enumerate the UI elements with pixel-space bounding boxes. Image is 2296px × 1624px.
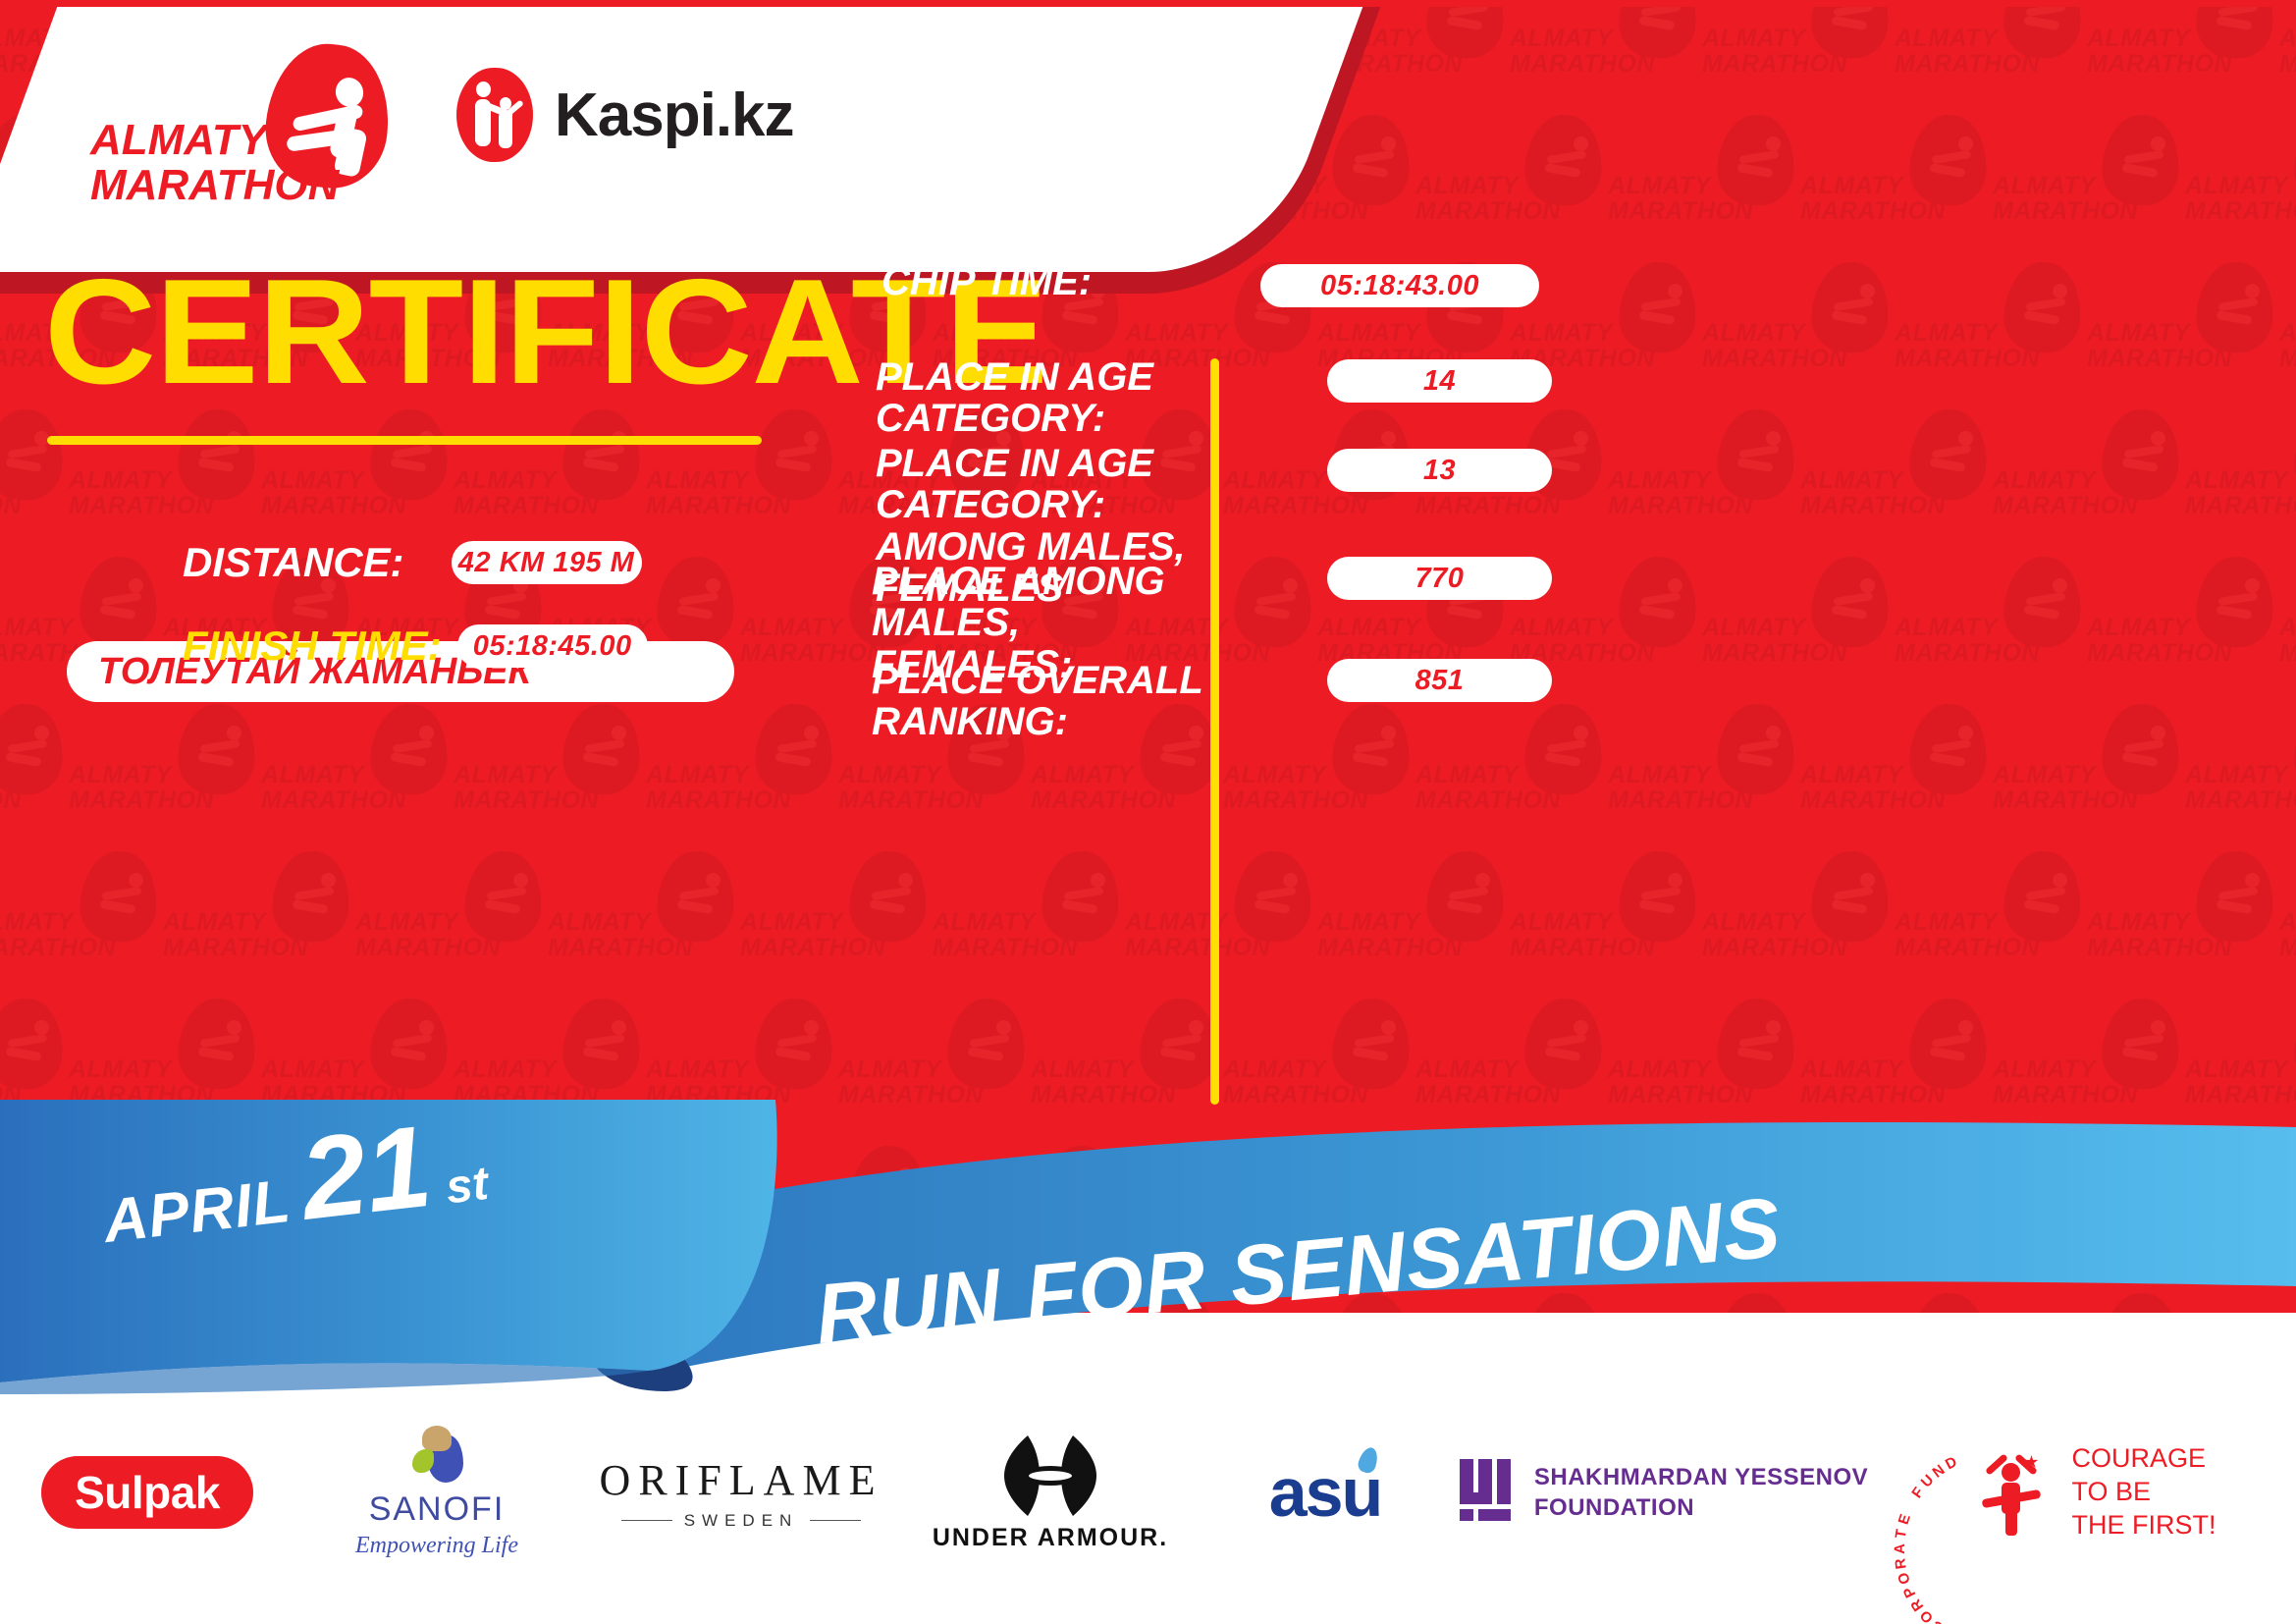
yessenov-line-1: SHAKHMARDAN YESSENOV — [1534, 1462, 1868, 1492]
sponsor-logo-sanofi: SANOFI Empowering Life — [294, 1419, 579, 1566]
stat-value-pill: 14 — [1327, 359, 1552, 403]
sanofi-icon — [406, 1426, 467, 1487]
field-distance-label: DISTANCE: — [183, 539, 404, 586]
oriflame-wordmark: ORIFLAME — [600, 1455, 883, 1505]
stat-value: 851 — [1415, 665, 1465, 697]
title-underline — [47, 436, 762, 445]
asu-wordmark: asu — [1269, 1453, 1382, 1532]
courage-figure-icon — [1986, 1455, 2041, 1534]
divider-line-right — [810, 1520, 861, 1521]
divider-line-left — [621, 1520, 672, 1521]
top-accent-rule — [0, 0, 2296, 7]
under-armour-wordmark: UNDER ARMOUR. — [933, 1524, 1168, 1552]
field-finish-time: FINISH TIME: 05:18:45.00 — [183, 623, 648, 670]
sulpak-wordmark: Sulpak — [41, 1456, 253, 1529]
courage-icon: CORPORATE FUND — [1947, 1437, 2056, 1547]
field-distance: DISTANCE: 42 KM 195 M — [183, 539, 642, 586]
sponsor-logo-sulpak: Sulpak — [0, 1419, 294, 1566]
ribbon-day-suffix: st — [443, 1157, 491, 1215]
sponsor-logo-asu: asu — [1198, 1419, 1453, 1566]
stat-label: CHIP TIME: — [881, 261, 1294, 302]
yessenov-icon — [1460, 1459, 1511, 1526]
courage-line-3: THE FIRST! — [2072, 1509, 2216, 1543]
stat-label: PLACE OVERALL RANKING: — [872, 660, 1333, 743]
sponsor-logo-under-armour: UNDER ARMOUR. — [903, 1419, 1198, 1566]
ribbon-day: 21 — [296, 1120, 435, 1227]
stat-value-pill: 851 — [1327, 659, 1552, 702]
stat-value-pill: 13 — [1327, 449, 1552, 492]
sponsor-logo-oriflame: ORIFLAME SWEDEN — [579, 1419, 903, 1566]
stat-value: 14 — [1423, 365, 1456, 398]
yessenov-line-2: FOUNDATION — [1534, 1492, 1868, 1523]
certificate-page: ALMATYMARATHONALMATYMARATHONALMATYMARATH… — [0, 0, 2296, 1624]
courage-line-1: COURAGE — [2072, 1442, 2216, 1476]
stat-value: 13 — [1423, 455, 1456, 487]
under-armour-icon — [992, 1434, 1108, 1518]
yessenov-wordmark: SHAKHMARDAN YESSENOV FOUNDATION — [1534, 1462, 1868, 1523]
stat-value-pill: 05:18:43.00 — [1260, 264, 1539, 307]
field-distance-value: 42 KM 195 M — [458, 547, 635, 579]
sponsor-logo-courage: CORPORATE FUND COURAGE TO BE THE FIRST! — [1875, 1419, 2287, 1566]
stat-value: 05:18:43.00 — [1320, 270, 1479, 302]
courage-wordmark: COURAGE TO BE THE FIRST! — [2072, 1442, 2216, 1542]
stat-label: PLACE IN AGE CATEGORY: — [876, 356, 1317, 440]
courage-line-2: TO BE — [2072, 1476, 2216, 1509]
certificate-right-column: CHIP TIME: 05:18:43.00 PLACE IN AGE CATE… — [1219, 7, 2296, 1313]
stat-value: 770 — [1415, 563, 1465, 595]
sanofi-wordmark: SANOFI — [369, 1490, 506, 1529]
oriflame-tagline-row: SWEDEN — [621, 1511, 862, 1531]
field-finish-time-label: FINISH TIME: — [183, 623, 442, 670]
stat-value-pill: 770 — [1327, 557, 1552, 600]
field-finish-time-value: 05:18:45.00 — [473, 630, 632, 663]
oriflame-tagline: SWEDEN — [684, 1511, 799, 1531]
field-finish-time-value-pill: 05:18:45.00 — [457, 624, 648, 668]
sponsor-logo-yessenov: SHAKHMARDAN YESSENOV FOUNDATION — [1453, 1419, 1875, 1566]
sanofi-tagline: Empowering Life — [355, 1533, 518, 1559]
field-distance-value-pill: 42 KM 195 M — [452, 541, 642, 584]
sponsor-strip: Sulpak SANOFI Empowering Life ORIFLAME S… — [0, 1404, 2296, 1581]
